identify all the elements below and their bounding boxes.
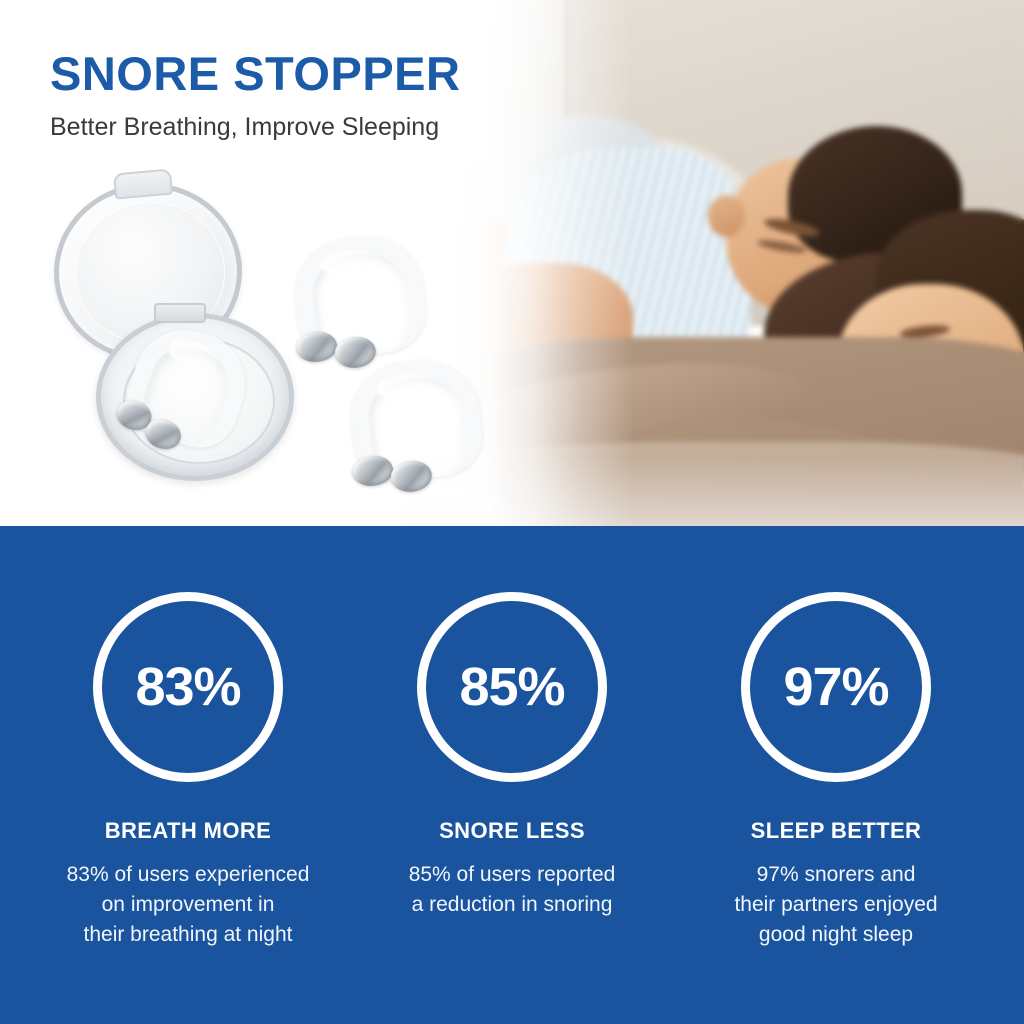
stat-description-line: on improvement in xyxy=(30,890,346,920)
stat-description-line: a reduction in snoring xyxy=(354,890,670,920)
product-infographic: SNORE STOPPER Better Breathing, Improve … xyxy=(0,0,1024,1024)
nose-clip-lower xyxy=(346,355,486,486)
stat-description-line: their partners enjoyed xyxy=(678,890,994,920)
stat-description-line: their breathing at night xyxy=(30,920,346,950)
stat-ring: 83% xyxy=(93,592,283,782)
stat-title: SNORE LESS xyxy=(354,818,670,844)
stat-description-line: 83% of users experienced xyxy=(30,860,346,890)
statistics-row: 83% BREATH MORE 83% of users experienced… xyxy=(0,526,1024,1024)
stat-ring: 97% xyxy=(741,592,931,782)
stat-snore-less: 85% SNORE LESS 85% of users reported a r… xyxy=(354,592,670,920)
stat-description: 97% snorers and their partners enjoyed g… xyxy=(678,860,994,949)
stat-description: 85% of users reported a reduction in sno… xyxy=(354,860,670,920)
nose-clip xyxy=(346,355,486,486)
stat-sleep-better: 97% SLEEP BETTER 97% snorers and their p… xyxy=(678,592,994,949)
case-lid-tab xyxy=(113,169,173,200)
page-title: SNORE STOPPER xyxy=(50,50,460,99)
stat-description-line: 85% of users reported xyxy=(354,860,670,890)
storage-case xyxy=(44,183,294,483)
stat-value: 83% xyxy=(135,656,240,718)
stat-description-line: good night sleep xyxy=(678,920,994,950)
hero-section: SNORE STOPPER Better Breathing, Improve … xyxy=(0,0,1024,526)
stat-value: 85% xyxy=(459,656,564,718)
stat-value: 97% xyxy=(783,656,888,718)
stat-description: 83% of users experienced on improvement … xyxy=(30,860,346,949)
nose-clip xyxy=(290,231,430,362)
statistics-panel: 83% BREATH MORE 83% of users experienced… xyxy=(0,526,1024,1024)
stat-title: SLEEP BETTER xyxy=(678,818,994,844)
stat-description-line: 97% snorers and xyxy=(678,860,994,890)
nose-clip-upper xyxy=(290,231,430,362)
stat-breath-more: 83% BREATH MORE 83% of users experienced… xyxy=(30,592,346,949)
product-shot xyxy=(0,165,510,505)
stat-ring: 85% xyxy=(417,592,607,782)
stat-title: BREATH MORE xyxy=(30,818,346,844)
headline-block: SNORE STOPPER Better Breathing, Improve … xyxy=(50,50,460,142)
page-subtitle: Better Breathing, Improve Sleeping xyxy=(50,113,460,142)
